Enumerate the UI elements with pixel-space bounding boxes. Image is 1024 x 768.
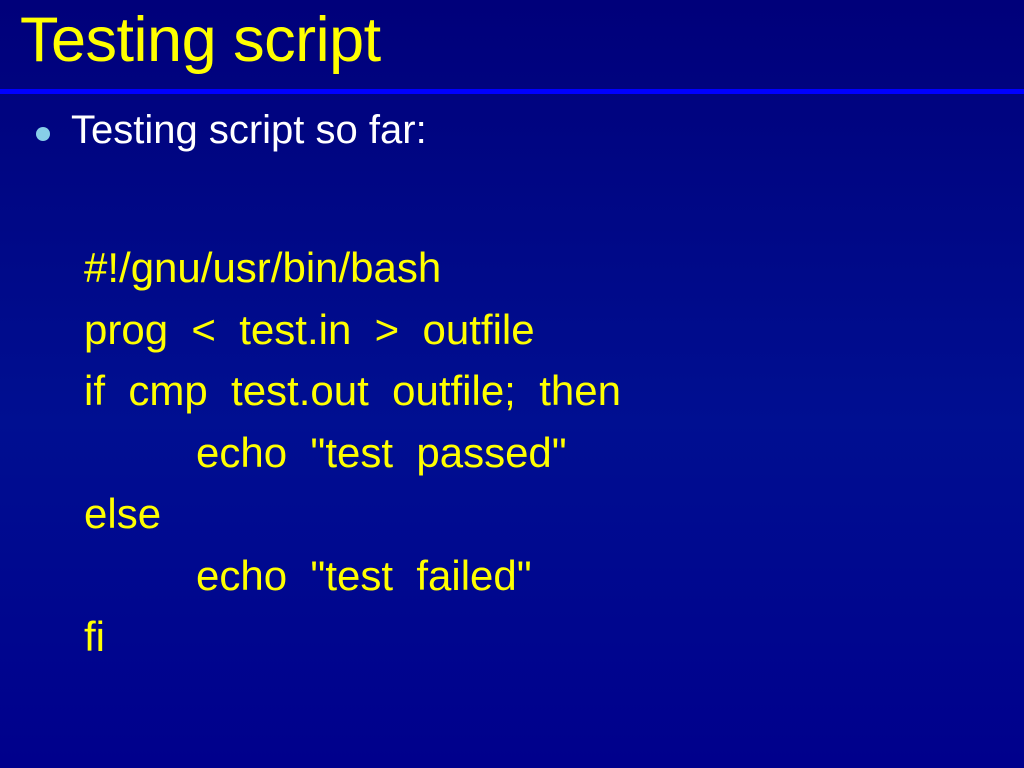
code-line: echo "test failed" bbox=[84, 545, 621, 607]
bullet-dot-icon bbox=[36, 127, 50, 141]
code-line: fi bbox=[84, 606, 621, 668]
presentation-slide: Testing script Testing script so far: #!… bbox=[0, 0, 1024, 768]
code-block: #!/gnu/usr/bin/bash prog < test.in > out… bbox=[84, 237, 621, 668]
code-line: echo "test passed" bbox=[84, 422, 621, 484]
code-line: prog < test.in > outfile bbox=[84, 299, 621, 361]
page-title: Testing script bbox=[20, 2, 381, 79]
code-line: if cmp test.out outfile; then bbox=[84, 360, 621, 422]
slide-body: Testing script so far: #!/gnu/usr/bin/ba… bbox=[0, 96, 1024, 768]
code-line: #!/gnu/usr/bin/bash bbox=[84, 237, 621, 299]
title-divider bbox=[0, 89, 1024, 94]
code-line: else bbox=[84, 483, 621, 545]
list-item: Testing script so far: bbox=[36, 105, 427, 155]
list-item-label: Testing script so far: bbox=[71, 105, 427, 155]
